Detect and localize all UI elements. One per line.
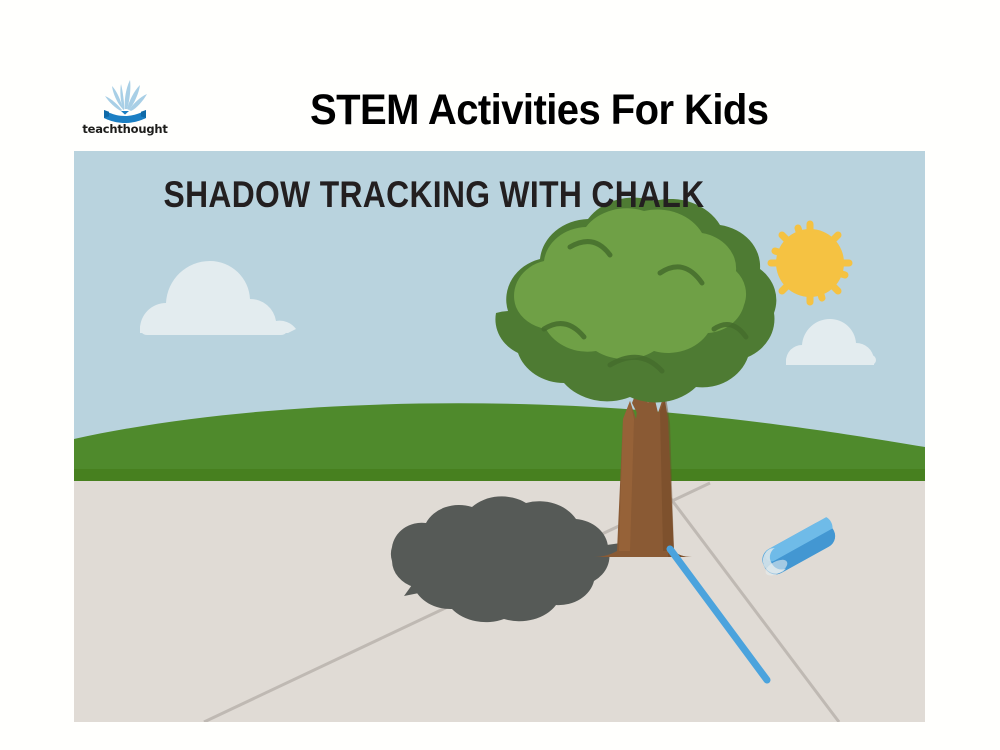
slide-page: teachthought STEM Activities For Kids: [0, 0, 1000, 750]
tree-canopy: [495, 198, 776, 403]
grass-hill: [74, 403, 925, 483]
brand-logo[interactable]: teachthought: [82, 78, 168, 144]
sun-icon: [771, 224, 849, 302]
illustration-title: SHADOW TRACKING WITH CHALK: [159, 173, 709, 217]
scene-svg: [74, 151, 925, 722]
cloud-left-icon: [140, 261, 296, 335]
cloud-right-icon: [786, 319, 876, 365]
teachthought-feather-logo-icon: [96, 78, 154, 124]
illustration-panel: SHADOW TRACKING WITH CHALK: [74, 151, 925, 722]
slide-header: teachthought STEM Activities For Kids: [0, 0, 1000, 151]
brand-logo-text: teachthought: [82, 122, 168, 136]
page-title: STEM Activities For Kids: [310, 86, 896, 135]
